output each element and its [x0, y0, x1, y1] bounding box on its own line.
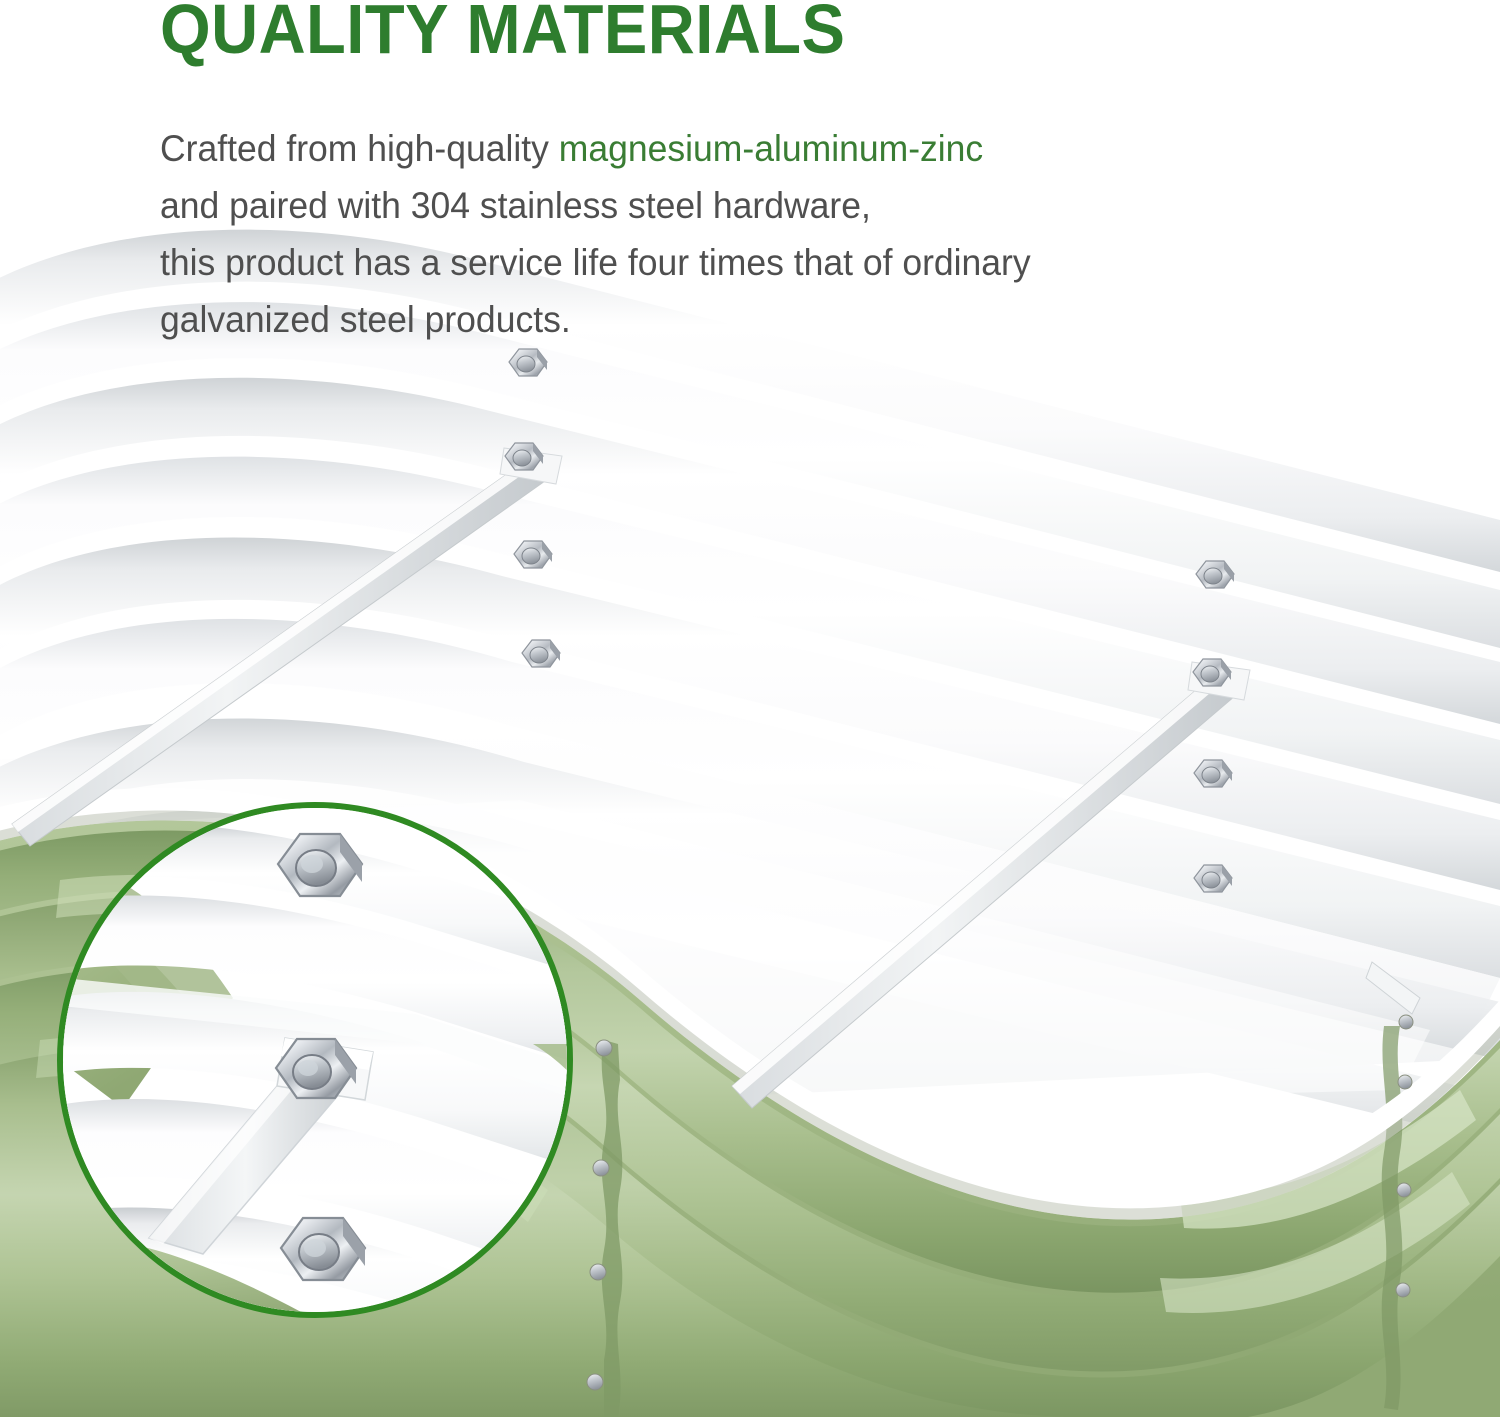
material-highlight: magnesium-aluminum-zinc — [559, 128, 983, 169]
description-line-1: Crafted from high-quality magnesium-alum… — [160, 120, 1235, 177]
description-line-2: and paired with 304 stainless steel hard… — [160, 177, 1235, 234]
product-feature-image: QUALITY MATERIALS Crafted from high-qual… — [0, 0, 1500, 1417]
description-line-1-prefix: Crafted from high-quality — [160, 128, 559, 169]
description-line-3: this product has a service life four tim… — [160, 234, 1235, 291]
page-title: QUALITY MATERIALS — [160, 0, 845, 64]
description-line-4: galvanized steel products. — [160, 291, 1235, 348]
text-layer: QUALITY MATERIALS Crafted from high-qual… — [0, 0, 1500, 1417]
description-paragraph: Crafted from high-quality magnesium-alum… — [160, 120, 1235, 348]
